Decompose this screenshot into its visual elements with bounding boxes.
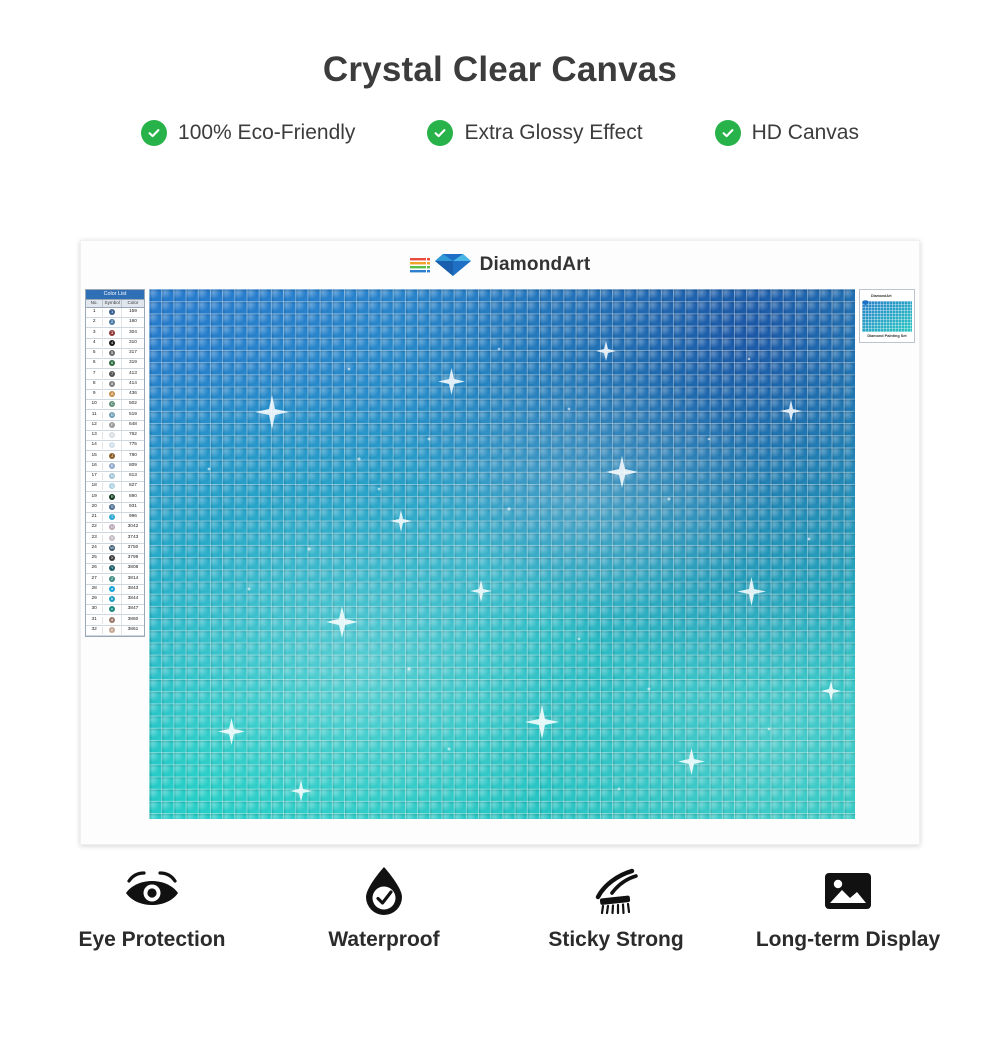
color-row-code: 3814: [122, 576, 144, 583]
color-row-symbol: H: [103, 441, 122, 450]
color-row-symbol: a: [103, 585, 122, 594]
brand-name: DiamondArt: [480, 254, 591, 276]
color-row-code: 3750: [122, 545, 144, 552]
color-row-number: 26: [86, 565, 103, 572]
brush-icon: [500, 862, 732, 920]
color-swatch-icon: X: [109, 555, 115, 561]
color-swatch-icon: a: [109, 586, 115, 592]
color-row-code: 996: [122, 514, 144, 521]
feature-item-glossy: Extra Glossy Effect: [391, 120, 678, 146]
bottom-feature-label: Eye Protection: [36, 928, 268, 952]
color-swatch-icon: Z: [109, 576, 115, 582]
color-row-code: 3042: [122, 524, 144, 531]
color-swatch-icon: V: [109, 535, 115, 541]
color-row-number: 6: [86, 360, 103, 367]
color-swatch-icon: W: [109, 545, 115, 551]
color-swatch-icon: R: [109, 494, 115, 500]
color-list-row: 12F648: [86, 421, 144, 431]
color-row-code: 3861: [122, 627, 144, 634]
color-swatch-icon: 7: [109, 371, 115, 377]
color-row-code: 931: [122, 504, 144, 511]
thumbnail-image: [862, 301, 912, 332]
color-row-symbol: 3: [103, 328, 122, 337]
color-list-row: 29b3844: [86, 595, 144, 605]
color-swatch-icon: Q: [109, 483, 115, 489]
color-row-code: 3847: [122, 606, 144, 613]
color-row-symbol: 5: [103, 349, 122, 358]
color-row-code: 827: [122, 483, 144, 490]
bottom-feature-eye-protection: Eye Protection: [36, 862, 268, 952]
color-row-code: 414: [122, 381, 144, 388]
color-swatch-icon: c: [109, 606, 115, 612]
color-list-row: 31d3860: [86, 615, 144, 625]
product-thumbnail-card: DiamondArt Diamond Painting Set: [859, 289, 915, 343]
feature-label: HD Canvas: [752, 121, 859, 145]
bottom-feature-label: Long-term Display: [732, 928, 964, 952]
color-row-number: 12: [86, 422, 103, 429]
color-row-symbol: R: [103, 492, 122, 501]
color-row-symbol: C: [103, 400, 122, 409]
diamond-logo-icon: [410, 252, 472, 278]
column-header-no: No.: [86, 300, 103, 307]
bottom-feature-waterproof: Waterproof: [268, 862, 500, 952]
color-row-number: 9: [86, 391, 103, 398]
thumbnail-caption: Diamond Painting Set: [862, 334, 912, 338]
color-row-number: 10: [86, 401, 103, 408]
color-swatch-icon: U: [109, 524, 115, 530]
color-swatch-icon: F: [109, 422, 115, 428]
color-row-number: 23: [86, 535, 103, 542]
color-swatch-icon: T: [109, 514, 115, 520]
color-row-code: 160: [122, 319, 144, 326]
check-circle-icon: [141, 120, 167, 146]
color-row-code: 413: [122, 371, 144, 378]
bottom-feature-list: Eye Protection Waterproof: [0, 862, 1000, 952]
feature-item-hd: HD Canvas: [679, 120, 895, 146]
color-swatch-icon: C: [109, 401, 115, 407]
column-header-symbol: Symbol: [103, 300, 122, 307]
color-row-symbol: Y: [103, 564, 122, 573]
eye-icon: [36, 862, 268, 920]
color-row-number: 18: [86, 483, 103, 490]
color-list-row: 16K809: [86, 462, 144, 472]
color-row-symbol: 2: [103, 318, 122, 327]
color-swatch-icon: 3: [109, 330, 115, 336]
color-row-number: 2: [86, 319, 103, 326]
color-list-row: 15J780: [86, 451, 144, 461]
color-row-number: 28: [86, 586, 103, 593]
color-list-row: 28a3843: [86, 585, 144, 595]
color-swatch-icon: b: [109, 596, 115, 602]
color-row-symbol: 4: [103, 339, 122, 348]
color-list-row: 9A436: [86, 390, 144, 400]
color-row-number: 16: [86, 463, 103, 470]
color-row-symbol: F: [103, 421, 122, 430]
color-row-symbol: 1: [103, 308, 122, 317]
thumbnail-brand-name: DiamondArt: [871, 294, 892, 298]
color-swatch-icon: 8: [109, 381, 115, 387]
color-row-number: 7: [86, 371, 103, 378]
color-swatch-icon: 4: [109, 340, 115, 346]
diamond-mosaic-image: [149, 289, 855, 819]
color-row-number: 14: [86, 442, 103, 449]
color-row-number: 15: [86, 453, 103, 460]
water-drop-icon: [268, 862, 500, 920]
color-row-code: 3844: [122, 596, 144, 603]
color-list-row: 22U3042: [86, 523, 144, 533]
color-swatch-icon: G: [109, 432, 115, 438]
color-list-row: 24W3750: [86, 544, 144, 554]
color-list-row: 18Q827: [86, 482, 144, 492]
diamond-logo-icon: [862, 293, 869, 299]
color-list-row: 26Y3808: [86, 564, 144, 574]
color-list-row: 27Z3814: [86, 574, 144, 584]
color-row-number: 29: [86, 596, 103, 603]
color-row-number: 32: [86, 627, 103, 634]
color-list-title: Color List: [86, 290, 144, 300]
color-swatch-icon: 2: [109, 319, 115, 325]
color-row-code: 3860: [122, 617, 144, 624]
color-list-row: 32e3861: [86, 626, 144, 636]
color-swatch-icon: 1: [109, 309, 115, 315]
color-list-row: 33304: [86, 328, 144, 338]
color-row-code: 813: [122, 473, 144, 480]
color-row-code: 519: [122, 412, 144, 419]
color-row-number: 30: [86, 606, 103, 613]
color-swatch-icon: J: [109, 453, 115, 459]
color-row-symbol: D: [103, 410, 122, 419]
color-row-code: 775: [122, 442, 144, 449]
color-row-symbol: X: [103, 554, 122, 563]
color-swatch-icon: Y: [109, 565, 115, 571]
color-swatch-icon: S: [109, 504, 115, 510]
check-circle-icon: [427, 120, 453, 146]
color-swatch-icon: d: [109, 617, 115, 623]
column-header-color: Color: [122, 300, 144, 307]
feature-list: 100% Eco-Friendly Extra Glossy Effect HD…: [0, 120, 1000, 146]
color-row-number: 4: [86, 340, 103, 347]
color-row-number: 31: [86, 617, 103, 624]
color-row-code: 3843: [122, 586, 144, 593]
color-row-number: 24: [86, 545, 103, 552]
feature-item-eco: 100% Eco-Friendly: [105, 120, 391, 146]
color-row-code: 780: [122, 453, 144, 460]
color-row-number: 8: [86, 381, 103, 388]
color-row-code: 3743: [122, 535, 144, 542]
color-row-symbol: c: [103, 605, 122, 614]
color-row-symbol: Z: [103, 574, 122, 583]
bottom-feature-label: Sticky Strong: [500, 928, 732, 952]
color-list-row: 77413: [86, 369, 144, 379]
color-row-code: 762: [122, 432, 144, 439]
color-list-row: 17N813: [86, 472, 144, 482]
brand-header: DiamondArt: [81, 241, 919, 289]
color-row-number: 19: [86, 494, 103, 501]
color-row-number: 21: [86, 514, 103, 521]
color-row-symbol: 6: [103, 359, 122, 368]
color-row-symbol: N: [103, 472, 122, 481]
color-list-row: 14H775: [86, 441, 144, 451]
bottom-feature-sticky-strong: Sticky Strong: [500, 862, 732, 952]
color-row-code: 502: [122, 401, 144, 408]
check-circle-icon: [715, 120, 741, 146]
color-list-row: 11D519: [86, 410, 144, 420]
color-list-row: 23V3743: [86, 533, 144, 543]
color-row-symbol: U: [103, 523, 122, 532]
color-row-code: 809: [122, 463, 144, 470]
color-row-number: 1: [86, 309, 103, 316]
color-list-row: 19R890: [86, 492, 144, 502]
bottom-feature-label: Waterproof: [268, 928, 500, 952]
color-swatch-icon: 5: [109, 350, 115, 356]
color-row-symbol: d: [103, 615, 122, 624]
color-list-row: 20S931: [86, 503, 144, 513]
color-row-number: 22: [86, 524, 103, 531]
color-row-number: 27: [86, 576, 103, 583]
color-swatch-icon: D: [109, 412, 115, 418]
color-row-code: 648: [122, 422, 144, 429]
color-list-row: 11159: [86, 308, 144, 318]
color-list-header-row: No. Symbol Color: [86, 300, 144, 308]
color-list-row: 44310: [86, 339, 144, 349]
color-list-row: 55317: [86, 349, 144, 359]
color-row-symbol: 8: [103, 380, 122, 389]
color-swatch-icon: K: [109, 463, 115, 469]
feature-label: Extra Glossy Effect: [464, 121, 642, 145]
color-row-number: 13: [86, 432, 103, 439]
color-row-code: 317: [122, 350, 144, 357]
product-canvas-panel: DiamondArt: [80, 240, 920, 845]
color-swatch-icon: A: [109, 391, 115, 397]
color-row-symbol: S: [103, 503, 122, 512]
color-list-row: 88414: [86, 380, 144, 390]
color-row-number: 20: [86, 504, 103, 511]
color-row-number: 3: [86, 330, 103, 337]
color-list-row: 66319: [86, 359, 144, 369]
color-swatch-icon: 6: [109, 360, 115, 366]
color-list-table: Color List No. Symbol Color 111592216033…: [85, 289, 145, 637]
color-list-row: 13G762: [86, 431, 144, 441]
color-list-row: 21T996: [86, 513, 144, 523]
color-row-number: 11: [86, 412, 103, 419]
color-row-symbol: e: [103, 626, 122, 635]
color-list-row: 25X3799: [86, 554, 144, 564]
color-row-symbol: J: [103, 451, 122, 460]
color-row-symbol: b: [103, 595, 122, 604]
color-row-symbol: A: [103, 390, 122, 399]
color-row-symbol: Q: [103, 482, 122, 491]
color-row-symbol: V: [103, 533, 122, 542]
color-row-code: 310: [122, 340, 144, 347]
color-row-symbol: T: [103, 513, 122, 522]
color-row-code: 159: [122, 309, 144, 316]
page-title: Crystal Clear Canvas: [0, 50, 1000, 90]
color-row-number: 17: [86, 473, 103, 480]
feature-label: 100% Eco-Friendly: [178, 121, 355, 145]
color-row-number: 5: [86, 350, 103, 357]
image-icon: [732, 862, 964, 920]
color-swatch-icon: e: [109, 627, 115, 633]
color-row-code: 304: [122, 330, 144, 337]
color-list-row: 30c3847: [86, 605, 144, 615]
color-row-symbol: K: [103, 462, 122, 471]
color-row-symbol: W: [103, 544, 122, 553]
artwork-area: Color List No. Symbol Color 111592216033…: [81, 289, 921, 846]
color-row-symbol: G: [103, 431, 122, 440]
color-list-row: 22160: [86, 318, 144, 328]
color-row-number: 25: [86, 555, 103, 562]
color-row-code: 436: [122, 391, 144, 398]
thumbnail-brand-row: DiamondArt: [862, 292, 912, 300]
color-row-code: 890: [122, 494, 144, 501]
color-swatch-icon: H: [109, 442, 115, 448]
color-row-code: 319: [122, 360, 144, 367]
color-list-row: 10C502: [86, 400, 144, 410]
color-row-code: 3808: [122, 565, 144, 572]
bottom-feature-long-term-display: Long-term Display: [732, 862, 964, 952]
color-swatch-icon: N: [109, 473, 115, 479]
color-row-code: 3799: [122, 555, 144, 562]
color-row-symbol: 7: [103, 369, 122, 378]
